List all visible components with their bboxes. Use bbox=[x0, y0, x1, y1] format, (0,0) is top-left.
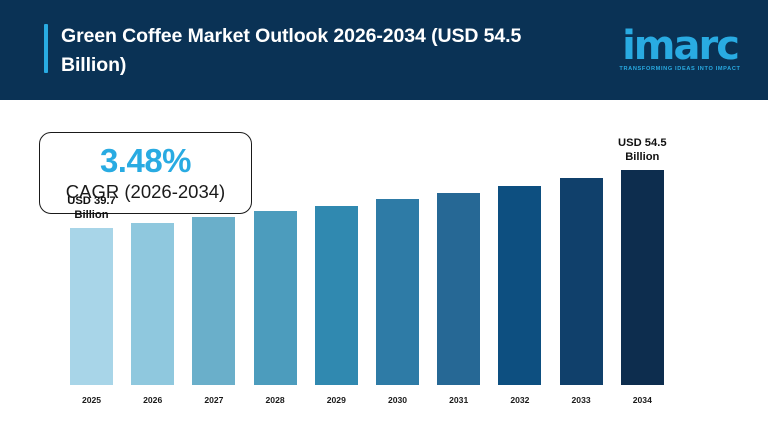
bar-2025 bbox=[70, 228, 113, 385]
bar-value-label-2034: USD 54.5Billion bbox=[618, 137, 667, 164]
bar-value-line: USD 39.7 bbox=[67, 195, 116, 209]
bar-2029 bbox=[315, 206, 358, 385]
bar-group-2025: USD 39.7Billion2025 bbox=[70, 188, 113, 432]
logo-wordmark: imarc bbox=[616, 27, 744, 65]
x-axis-tick-2029: 2029 bbox=[327, 395, 346, 405]
bar-group-2031: 2031 bbox=[437, 153, 480, 432]
bar-2034 bbox=[621, 170, 664, 385]
header-banner: Green Coffee Market Outlook 2026-2034 (U… bbox=[0, 0, 768, 100]
bar-group-2028: 2028 bbox=[254, 171, 297, 432]
bar-group-2027: 2027 bbox=[192, 177, 235, 432]
bar-group-2026: 2026 bbox=[131, 183, 174, 432]
bar-value-line: Billion bbox=[67, 209, 116, 223]
bar-2033 bbox=[560, 178, 603, 385]
logo-tagline: TRANSFORMING IDEAS INTO IMPACT bbox=[616, 66, 744, 72]
bar-value-label-2025: USD 39.7Billion bbox=[67, 195, 116, 222]
x-axis-tick-2028: 2028 bbox=[266, 395, 285, 405]
bar-chart: USD 39.7Billion2025202620272028202920302… bbox=[0, 100, 768, 432]
x-axis-tick-2027: 2027 bbox=[204, 395, 223, 405]
x-axis-tick-2030: 2030 bbox=[388, 395, 407, 405]
x-axis-tick-2025: 2025 bbox=[82, 395, 101, 405]
bar-2027 bbox=[192, 217, 235, 385]
bar-group-2032: 2032 bbox=[498, 146, 541, 432]
x-axis-tick-2026: 2026 bbox=[143, 395, 162, 405]
bar-2032 bbox=[498, 186, 541, 385]
bar-2026 bbox=[131, 223, 174, 385]
page-title: Green Coffee Market Outlook 2026-2034 (U… bbox=[61, 22, 591, 80]
bar-2028 bbox=[254, 211, 297, 385]
bar-group-2029: 2029 bbox=[315, 166, 358, 432]
bar-value-line: USD 54.5 bbox=[618, 137, 667, 151]
chart-infographic: Green Coffee Market Outlook 2026-2034 (U… bbox=[0, 0, 768, 432]
bar-group-2030: 2030 bbox=[376, 159, 419, 432]
bar-value-line: Billion bbox=[618, 151, 667, 165]
bar-2030 bbox=[376, 199, 419, 385]
x-axis-tick-2033: 2033 bbox=[572, 395, 591, 405]
x-axis-tick-2034: 2034 bbox=[633, 395, 652, 405]
bar-group-2033: 2033 bbox=[560, 138, 603, 432]
imarc-logo: imarc TRANSFORMING IDEAS INTO IMPACT bbox=[616, 27, 744, 75]
x-axis-tick-2031: 2031 bbox=[449, 395, 468, 405]
bar-2031 bbox=[437, 193, 480, 385]
bar-group-2034: USD 54.5Billion2034 bbox=[621, 130, 664, 432]
x-axis-tick-2032: 2032 bbox=[510, 395, 529, 405]
header-accent-bar bbox=[44, 24, 48, 73]
